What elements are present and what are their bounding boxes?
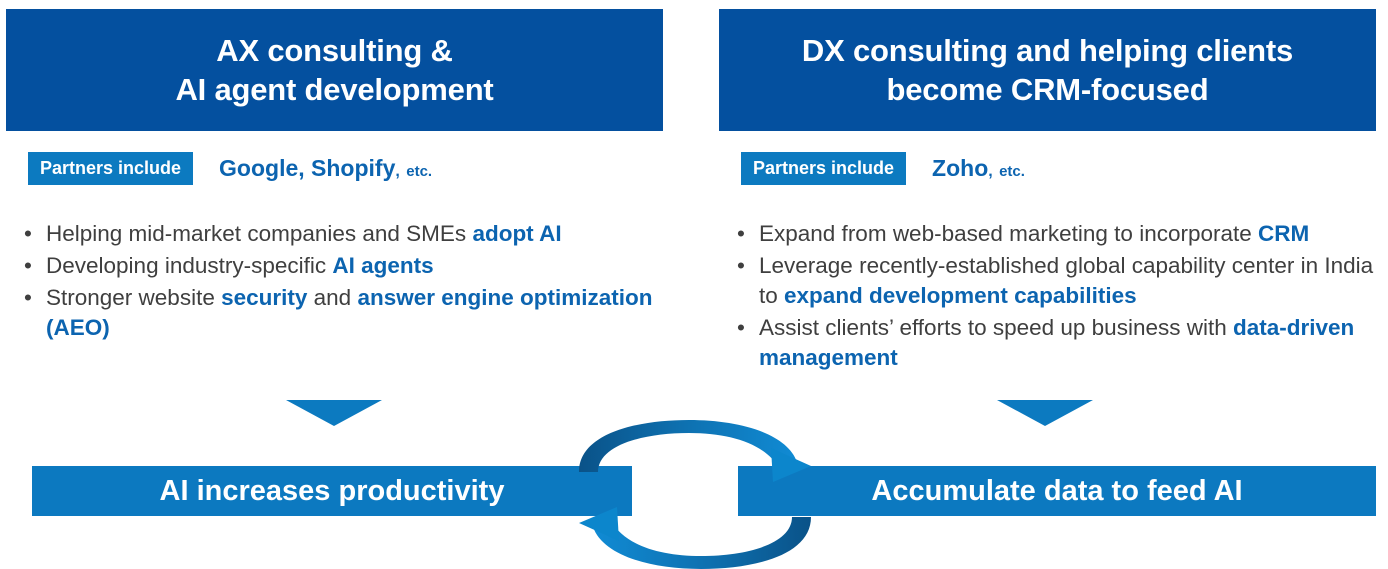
bullet-dot-icon: • (24, 251, 32, 281)
partners-names-right: Zoho, etc. (932, 155, 1025, 182)
partners-row-right: Partners include Zoho, etc. (741, 152, 1025, 184)
bullet-item: •Stronger website security and answer en… (20, 283, 670, 343)
bullet-plain: Expand from web-based marketing to incor… (759, 221, 1258, 246)
bullet-text: Developing industry-specific AI agents (46, 253, 434, 278)
partner-names-left-comma: , (395, 163, 399, 180)
bullet-dot-icon: • (24, 283, 32, 313)
partners-row-left: Partners include Google, Shopify, etc. (28, 152, 432, 184)
bullet-plain: and (307, 285, 357, 310)
curved-arrow-left-icon (579, 507, 811, 569)
down-arrow-icon-left (286, 400, 382, 426)
bullet-item: •Leverage recently-established global ca… (733, 251, 1388, 311)
bullet-plain: Developing industry-specific (46, 253, 332, 278)
bullet-list-right: •Expand from web-based marketing to inco… (733, 219, 1388, 375)
partner-names-right-comma: , (988, 163, 992, 180)
partner-names-right-text: Zoho (932, 155, 988, 181)
bullet-emphasis: security (221, 285, 307, 310)
bottom-bar-right-label: Accumulate data to feed AI (871, 475, 1242, 508)
bullet-emphasis: CRM (1258, 221, 1309, 246)
bullet-text: Leverage recently-established global cap… (759, 253, 1373, 308)
bullet-item: •Expand from web-based marketing to inco… (733, 219, 1388, 249)
bullet-plain: Stronger website (46, 285, 221, 310)
header-right-line1: DX consulting and helping clients (802, 31, 1293, 70)
bullet-list-left: •Helping mid-market companies and SMEs a… (20, 219, 670, 345)
bullet-text: Stronger website security and answer eng… (46, 285, 653, 340)
bottom-bar-left: AI increases productivity (32, 466, 632, 516)
bottom-bar-right: Accumulate data to feed AI (738, 466, 1376, 516)
header-right-line2: become CRM-focused (802, 70, 1293, 109)
bullet-dot-icon: • (737, 313, 745, 343)
bullet-item: •Developing industry-specific AI agents (20, 251, 670, 281)
bullet-text: Helping mid-market companies and SMEs ad… (46, 221, 562, 246)
bullet-emphasis: adopt AI (472, 221, 561, 246)
partner-names-right-etc: etc. (999, 163, 1025, 180)
header-left-line1: AX consulting & (175, 31, 493, 70)
bullet-dot-icon: • (737, 219, 745, 249)
bullet-emphasis: expand development capabilities (784, 283, 1137, 308)
partners-names-left: Google, Shopify, etc. (219, 155, 432, 182)
partners-badge-left: Partners include (28, 152, 193, 185)
bottom-bar-left-label: AI increases productivity (160, 475, 505, 508)
header-banner-left: AX consulting & AI agent development (6, 9, 663, 131)
down-arrow-icon-right (997, 400, 1093, 426)
header-banner-right: DX consulting and helping clients become… (719, 9, 1376, 131)
partner-names-left-text: Google, Shopify (219, 155, 395, 181)
header-left-line2: AI agent development (175, 70, 493, 109)
bullet-plain: Assist clients’ efforts to speed up busi… (759, 315, 1233, 340)
bullet-item: •Assist clients’ efforts to speed up bus… (733, 313, 1388, 373)
bullet-dot-icon: • (24, 219, 32, 249)
bullet-emphasis: AI agents (332, 253, 433, 278)
partner-names-left-etc: etc. (406, 163, 432, 180)
bullet-dot-icon: • (737, 251, 745, 281)
bullet-text: Expand from web-based marketing to incor… (759, 221, 1309, 246)
bullet-text: Assist clients’ efforts to speed up busi… (759, 315, 1354, 370)
bullet-item: •Helping mid-market companies and SMEs a… (20, 219, 670, 249)
bullet-plain: Helping mid-market companies and SMEs (46, 221, 472, 246)
partners-badge-right: Partners include (741, 152, 906, 185)
slide-canvas: AX consulting & AI agent development Par… (0, 0, 1388, 569)
